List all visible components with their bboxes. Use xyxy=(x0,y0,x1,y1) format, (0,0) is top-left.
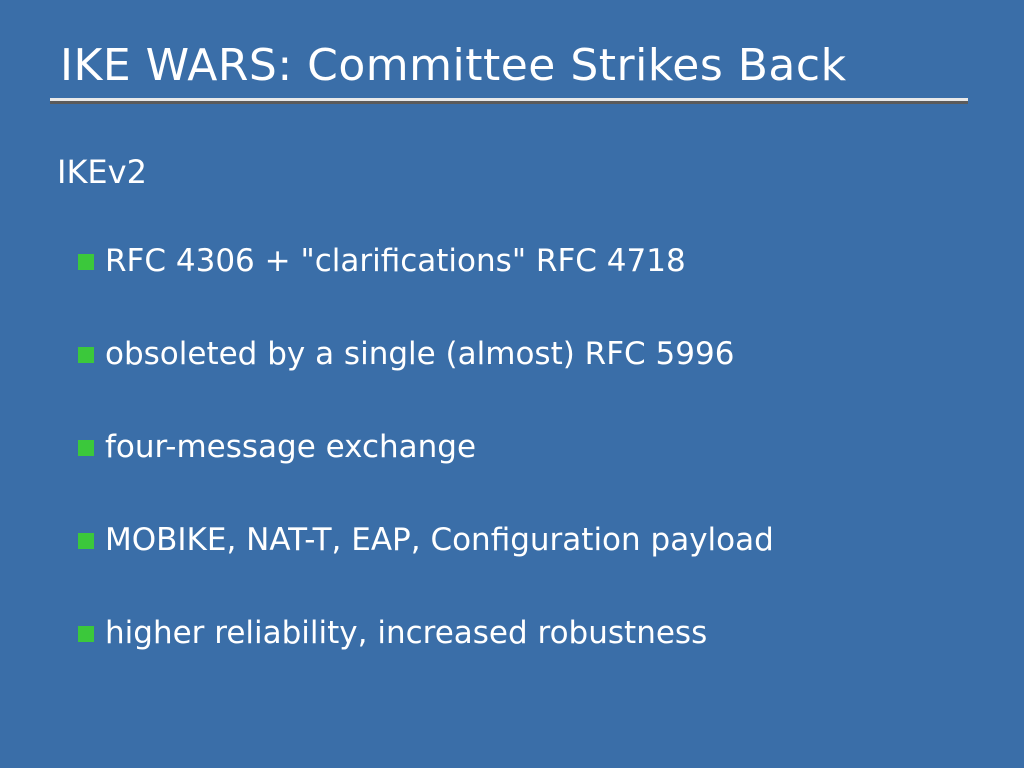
square-bullet-icon xyxy=(78,533,94,549)
slide-subtitle: IKEv2 xyxy=(57,152,147,192)
square-bullet-icon xyxy=(78,626,94,642)
list-item: higher reliability, increased robustness xyxy=(78,612,978,705)
title-underline-rule xyxy=(50,98,968,104)
list-item: MOBIKE, NAT-T, EAP, Configuration payloa… xyxy=(78,519,978,612)
list-item-label: MOBIKE, NAT-T, EAP, Configuration payloa… xyxy=(105,519,978,561)
list-item-label: four-message exchange xyxy=(105,426,978,468)
square-bullet-icon xyxy=(78,347,94,363)
presentation-slide: IKE WARS: Committee Strikes Back IKEv2 R… xyxy=(0,0,1024,768)
square-bullet-icon xyxy=(78,440,94,456)
list-item-label: higher reliability, increased robustness xyxy=(105,612,978,654)
rule-shadow xyxy=(50,101,968,104)
bullet-list: RFC 4306 + "clarifications" RFC 4718 obs… xyxy=(78,240,978,705)
list-item: four-message exchange xyxy=(78,426,978,519)
list-item: obsoleted by a single (almost) RFC 5996 xyxy=(78,333,978,426)
list-item-label: obsoleted by a single (almost) RFC 5996 xyxy=(105,333,978,375)
list-item-label: RFC 4306 + "clarifications" RFC 4718 xyxy=(105,240,978,282)
list-item: RFC 4306 + "clarifications" RFC 4718 xyxy=(78,240,978,333)
slide-title: IKE WARS: Committee Strikes Back xyxy=(60,38,847,94)
square-bullet-icon xyxy=(78,254,94,270)
title-block: IKE WARS: Committee Strikes Back xyxy=(0,38,1024,108)
